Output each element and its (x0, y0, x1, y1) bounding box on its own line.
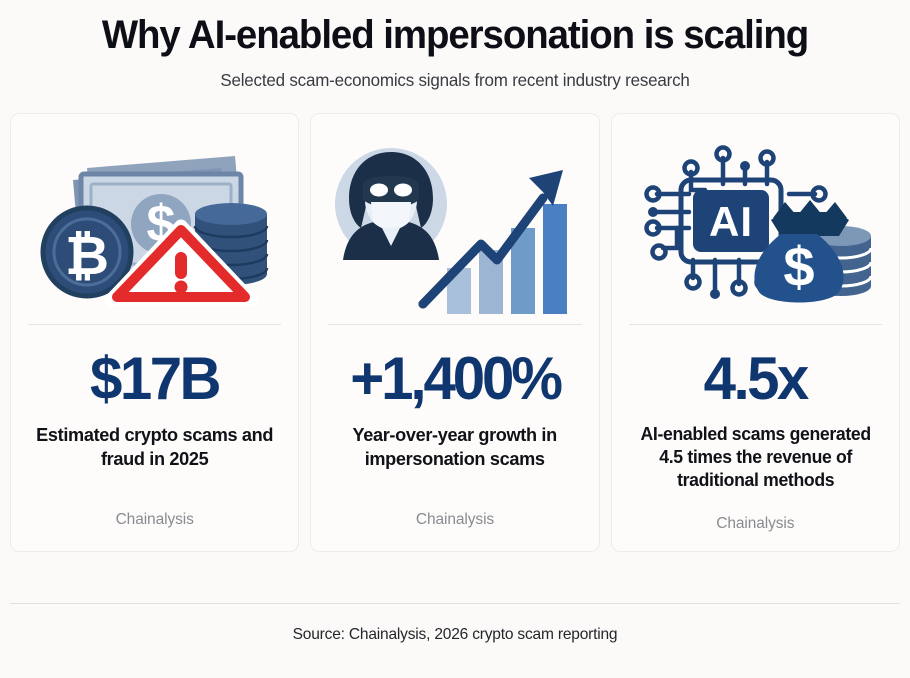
page-subtitle: Selected scam-economics signals from rec… (14, 70, 897, 91)
stat-card-crypto-fraud: $ (10, 113, 299, 552)
stat-description: Estimated crypto scams and fraud in 2025 (28, 423, 282, 470)
header: Why AI-enabled impersonation is scaling … (0, 0, 910, 91)
infographic-root: Why AI-enabled impersonation is scaling … (0, 0, 910, 678)
card-divider (28, 324, 281, 325)
footer: Source: Chainalysis, 2026 crypto scam re… (0, 603, 910, 644)
svg-text:AI: AI (709, 198, 753, 245)
card-divider (328, 324, 581, 325)
stat-source: Chainalysis (311, 511, 598, 529)
stat-source: Chainalysis (11, 511, 298, 529)
crypto-cash-alert-icon: $ (25, 124, 284, 322)
svg-text:$: $ (784, 235, 815, 298)
stat-value: 4.5x (704, 349, 807, 409)
stat-description: AI-enabled scams generated 4.5 times the… (628, 423, 882, 491)
stat-description: Year-over-year growth in impersonation s… (328, 423, 582, 470)
svg-text:₿: ₿ (65, 226, 109, 286)
masked-fraudster-growth-chart-icon (325, 124, 584, 322)
stat-card-impersonation-growth: +1,400% Year-over-year growth in imperso… (310, 113, 599, 552)
stat-value: $17B (90, 349, 219, 409)
page-title: Why AI-enabled impersonation is scaling (18, 14, 892, 56)
card-divider (629, 324, 882, 325)
ai-chip-money-bag-icon: AI (626, 124, 885, 322)
stat-value: +1,400% (350, 349, 560, 409)
stat-card-row: $ (0, 91, 910, 552)
stat-source: Chainalysis (612, 515, 899, 533)
footer-source-note: Source: Chainalysis, 2026 crypto scam re… (23, 604, 886, 644)
stat-card-ai-revenue-multiple: AI (611, 113, 900, 552)
footer-spacer (0, 644, 910, 678)
